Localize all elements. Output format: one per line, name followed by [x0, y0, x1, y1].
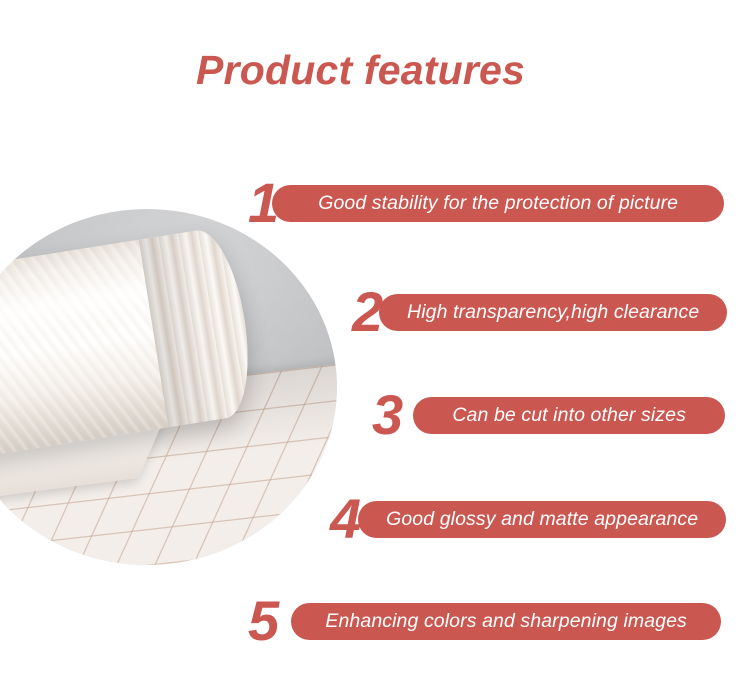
product-features-infographic: Product features 1 Good stability for th… — [0, 0, 750, 682]
page-title: Product features — [196, 48, 525, 93]
feature-number-3: 3 — [372, 387, 402, 443]
feature-label-1: Good stability for the protection of pic… — [272, 185, 724, 222]
feature-number-5: 5 — [248, 593, 278, 649]
feature-label-5: Enhancing colors and sharpening images — [291, 603, 721, 640]
feature-label-4: Good glossy and matte appearance — [358, 501, 726, 538]
feature-number-2: 2 — [352, 284, 382, 340]
product-photo-image — [0, 209, 337, 565]
feature-label-3: Can be cut into other sizes — [413, 397, 725, 434]
feature-number-4: 4 — [330, 491, 360, 547]
feature-row-3: 3 Can be cut into other sizes — [372, 386, 725, 444]
feature-row-2: 2 High transparency,high clearance — [352, 283, 727, 341]
product-photo — [0, 200, 346, 574]
feature-row-5: 5 Enhancing colors and sharpening images — [248, 592, 721, 650]
feature-number-1: 1 — [248, 175, 278, 231]
feature-label-2: High transparency,high clearance — [379, 294, 727, 331]
feature-row-4: 4 Good glossy and matte appearance — [330, 490, 726, 548]
feature-row-1: 1 Good stability for the protection of p… — [248, 174, 724, 232]
